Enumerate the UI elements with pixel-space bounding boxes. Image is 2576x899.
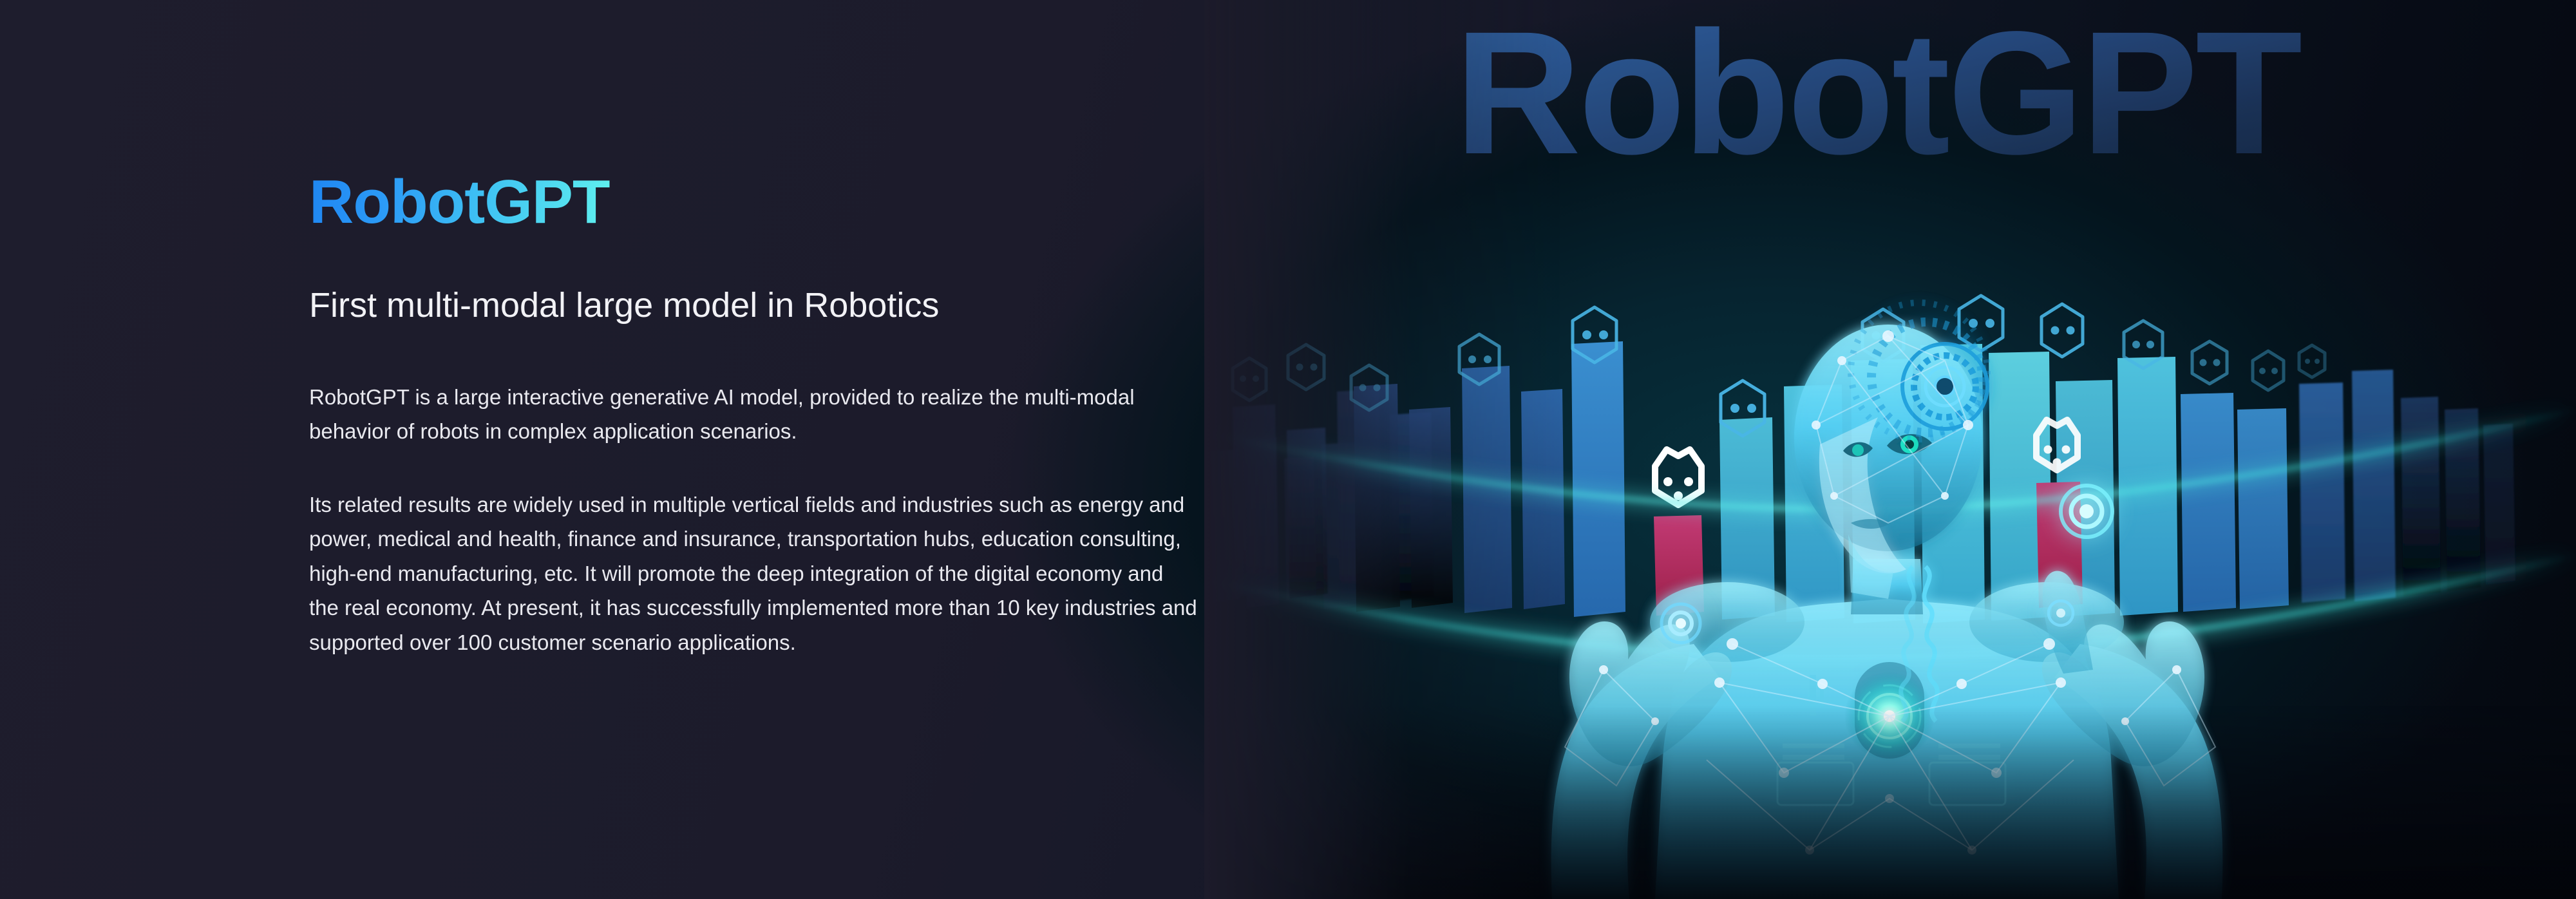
hero-paragraph-2: Its related results are widely used in m…: [309, 487, 1198, 659]
hero-banner: RobotGPT First multi-modal large model i…: [0, 0, 2576, 899]
hero-artwork: RobotGPT: [1204, 0, 2576, 899]
hero-text-column: RobotGPT First multi-modal large model i…: [309, 0, 1224, 899]
brand-title: RobotGPT: [309, 171, 610, 233]
hero-paragraph-1: RobotGPT is a large interactive generati…: [309, 380, 1198, 449]
robot-figure: [1204, 0, 2576, 899]
hero-subtitle: First multi-modal large model in Robotic…: [309, 285, 939, 326]
